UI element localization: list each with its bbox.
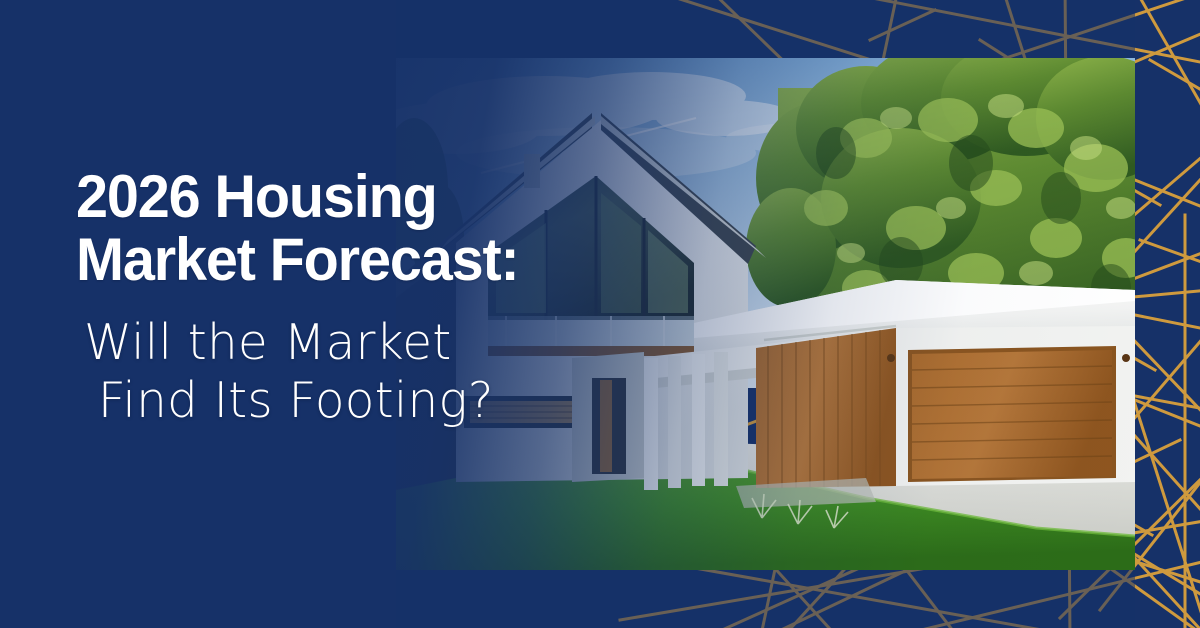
headline-line-1: 2026 Housing xyxy=(76,168,652,227)
subtitle-line-2: Find Its Footing? xyxy=(84,374,670,429)
text-block: 2026 Housing Market Forecast: Will the M… xyxy=(76,168,676,429)
subtitle-block: Will the Market Find Its Footing? xyxy=(76,316,676,430)
headline-line-2: Market Forecast: xyxy=(76,231,652,290)
subtitle-line-1: Will the Market xyxy=(84,316,670,371)
banner-canvas: 2026 Housing Market Forecast: Will the M… xyxy=(0,0,1200,628)
